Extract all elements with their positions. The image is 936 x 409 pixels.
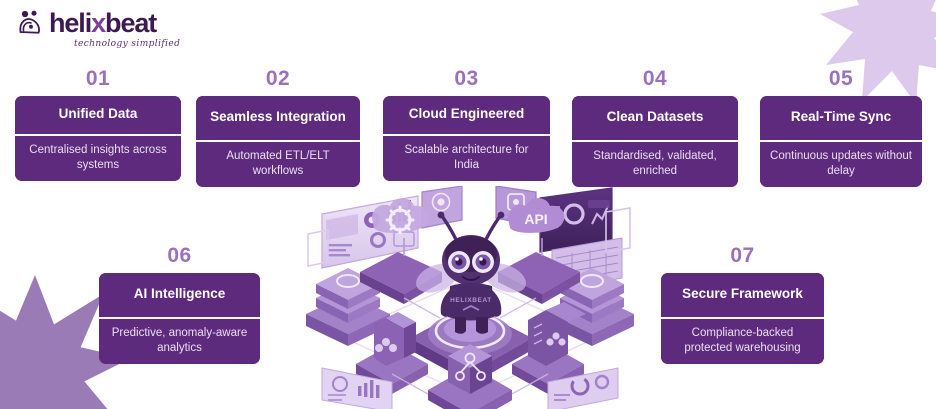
card-description: Standardised, validated, enriched — [572, 142, 738, 187]
brand-name: helixbeat — [49, 10, 156, 37]
feature-card-02[interactable]: 02 Seamless Integration Automated ETL/EL… — [196, 68, 360, 187]
card-number: 02 — [196, 68, 360, 89]
card-title: Seamless Integration — [196, 96, 360, 140]
card-number: 05 — [760, 68, 922, 89]
feature-card-05[interactable]: 05 Real-Time Sync Continuous updates wit… — [760, 68, 922, 187]
card-title: Unified Data — [15, 96, 181, 134]
card-description: Automated ETL/ELT workflows — [196, 142, 360, 187]
brand-logo[interactable]: helixbeat technology simplified — [16, 8, 206, 56]
card-description: Predictive, anomaly-aware analytics — [99, 319, 260, 364]
feature-card-03[interactable]: 03 Cloud Engineered Scalable architectur… — [383, 68, 550, 181]
helixbeat-bee-logo-icon — [16, 8, 46, 38]
card-title: Real-Time Sync — [760, 96, 922, 140]
svg-text:HELIXBEAT: HELIXBEAT — [450, 297, 492, 304]
card-title: Clean Datasets — [572, 96, 738, 140]
feature-card-04[interactable]: 04 Clean Datasets Standardised, validate… — [572, 68, 738, 187]
card-number: 01 — [15, 68, 181, 89]
card-description: Scalable architecture for India — [383, 136, 550, 181]
card-number: 06 — [99, 245, 260, 266]
card-title: AI Intelligence — [99, 273, 260, 317]
infographic-page: helixbeat technology simplified 01 Unifi… — [0, 0, 936, 409]
card-description: Compliance-backed protected warehousing — [661, 319, 824, 364]
svg-text:API: API — [524, 211, 547, 227]
brand-tagline: technology simplified — [74, 39, 206, 49]
card-title: Cloud Engineered — [383, 96, 550, 134]
card-number: 07 — [661, 245, 824, 266]
feature-card-01[interactable]: 01 Unified Data Centralised insights acr… — [15, 68, 181, 181]
isometric-data-platform-illustration: API — [300, 186, 640, 409]
card-number: 04 — [572, 68, 738, 89]
card-description: Centralised insights across systems — [15, 136, 181, 181]
card-number: 03 — [383, 68, 550, 89]
card-description: Continuous updates without delay — [760, 142, 922, 187]
feature-card-07[interactable]: 07 Secure Framework Compliance-backed pr… — [661, 245, 824, 364]
card-title: Secure Framework — [661, 273, 824, 317]
feature-card-06[interactable]: 06 AI Intelligence Predictive, anomaly-a… — [99, 245, 260, 364]
